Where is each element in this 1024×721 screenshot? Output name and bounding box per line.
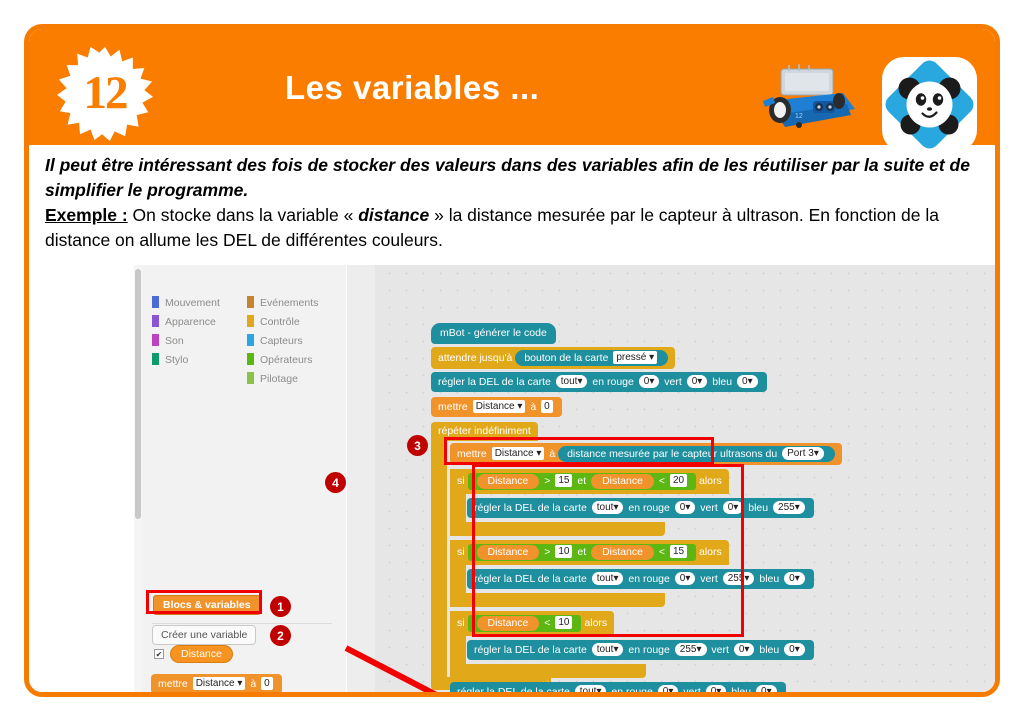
palette-divider (152, 623, 332, 624)
led-green-value[interactable]: 0▾ (734, 643, 755, 656)
step-badge-1: 1 (270, 596, 291, 617)
block-label-bleu: bleu (748, 502, 768, 514)
highlight-box-conditions (472, 464, 744, 637)
block-label-bleu: bleu (712, 376, 732, 388)
script-block-led-init[interactable]: régler la DEL de la carte tout▾ en rouge… (431, 372, 767, 392)
category-color-chip (247, 296, 254, 308)
intro-text: Il peut être intéressant des fois de sto… (45, 153, 989, 253)
page-title: Les variables ... (285, 69, 539, 107)
led-red-value[interactable]: 255▾ (675, 643, 707, 656)
port-dropdown[interactable]: Port 3▾ (782, 447, 824, 460)
category-label: Apparence (165, 316, 216, 328)
led-blue-value[interactable]: 0▾ (784, 572, 805, 585)
category-son[interactable]: Son (152, 334, 184, 347)
block-label-bleu: bleu (759, 644, 779, 656)
value-field[interactable]: 0 (261, 677, 273, 690)
value-field[interactable]: 0 (541, 400, 553, 413)
svg-text:12: 12 (795, 113, 803, 120)
led-red-value[interactable]: 0▾ (639, 375, 660, 388)
canvas-left-strip (347, 265, 375, 692)
block-label-rouge: en rouge (611, 686, 652, 692)
block-label-mid: à (530, 401, 536, 413)
category-label: Evénements (260, 297, 318, 309)
state-dropdown[interactable]: pressé ▾ (613, 351, 657, 364)
step-badge-3: 3 (407, 435, 428, 456)
variable-dropdown[interactable]: Distance ▾ (473, 400, 526, 413)
block-label-bleu: bleu (731, 686, 751, 692)
variable-pill-distance[interactable]: Distance (170, 645, 233, 663)
block-label-vert: vert (664, 376, 682, 388)
mbot-robot-icon: 12 (751, 63, 867, 145)
led-green-value[interactable]: 0▾ (706, 685, 727, 692)
step-badge-2: 2 (270, 625, 291, 646)
block-palette: Mouvement Apparence Son Stylo Evénements… (134, 265, 346, 692)
category-color-chip (152, 353, 159, 365)
led-blue-value[interactable]: 255▾ (773, 501, 805, 514)
led-blue-value[interactable]: 0▾ (737, 375, 758, 388)
category-color-chip (247, 334, 254, 346)
led-red-value[interactable]: 0▾ (658, 685, 679, 692)
block-label: attendre jusqu'à (438, 352, 512, 364)
si-label: si (457, 546, 465, 558)
example-part-1: On stocke dans la variable « (128, 205, 359, 225)
highlight-box-mettre-distance (444, 437, 714, 465)
lesson-number: 12 (57, 45, 153, 141)
create-variable-button[interactable]: Créer une variable (152, 625, 256, 645)
mblock-editor-screenshot: Mouvement Apparence Son Stylo Evénements… (134, 265, 1000, 692)
category-label: Mouvement (165, 297, 220, 309)
category-color-chip (247, 372, 254, 384)
category-label: Contrôle (260, 316, 300, 328)
script-block-attendre-jusqua[interactable]: attendre jusqu'à bouton de la carte pres… (431, 347, 675, 369)
category-evenements[interactable]: Evénements (247, 296, 318, 309)
category-apparence[interactable]: Apparence (152, 315, 216, 328)
sensor-bouton-carte[interactable]: bouton de la carte pressé ▾ (515, 350, 668, 366)
si-label: si (457, 475, 465, 487)
category-label: Pilotage (260, 373, 298, 385)
category-mouvement[interactable]: Mouvement (152, 296, 220, 309)
category-capteurs[interactable]: Capteurs (247, 334, 303, 347)
block-label: régler la DEL de la carte (438, 376, 551, 388)
category-label: Son (165, 335, 184, 347)
block-label-rouge: en rouge (628, 644, 669, 656)
block-label-mid: à (250, 678, 256, 690)
category-color-chip (247, 353, 254, 365)
category-controle[interactable]: Contrôle (247, 315, 300, 328)
example-emphasis: distance (358, 205, 429, 225)
intro-line-1: Il peut être intéressant des fois de sto… (45, 153, 989, 203)
si-label: si (457, 617, 465, 629)
highlight-box-blocs-variables (146, 590, 262, 614)
category-pilotage[interactable]: Pilotage (247, 372, 298, 385)
variable-visibility-checkbox[interactable]: ✔ (154, 649, 164, 659)
category-label: Capteurs (260, 335, 303, 347)
block-label-rouge: en rouge (592, 376, 633, 388)
category-color-chip (152, 334, 159, 346)
block-label-bleu: bleu (759, 573, 779, 585)
category-operateurs[interactable]: Opérateurs (247, 353, 313, 366)
block-label: mettre (438, 401, 468, 413)
led-blue-value[interactable]: 0▾ (756, 685, 777, 692)
led-target-dropdown[interactable]: tout▾ (556, 375, 588, 388)
category-color-chip (152, 296, 159, 308)
palette-scroll-thumb[interactable] (135, 269, 141, 519)
category-label: Stylo (165, 354, 188, 366)
intro-example: Exemple : On stocke dans la variable « d… (45, 203, 989, 253)
step-badge-4: 4 (325, 472, 346, 493)
led-blue-value[interactable]: 0▾ (784, 643, 805, 656)
red-arrow (334, 645, 584, 692)
lesson-card: 12 Les variables ... (24, 24, 1000, 697)
category-label: Opérateurs (260, 354, 313, 366)
block-label: mettre (158, 678, 188, 690)
script-block-mettre-distance-zero[interactable]: mettre Distance ▾ à 0 (431, 397, 562, 417)
script-block-hat-mbot[interactable]: mBot - générer le code (431, 323, 556, 344)
card-header: 12 Les variables ... (29, 29, 995, 145)
variable-dropdown[interactable]: Distance ▾ (193, 677, 246, 690)
category-stylo[interactable]: Stylo (152, 353, 188, 366)
category-color-chip (247, 315, 254, 327)
category-color-chip (152, 315, 159, 327)
led-green-value[interactable]: 0▾ (687, 375, 708, 388)
block-label-vert: vert (683, 686, 701, 692)
example-label: Exemple : (45, 205, 128, 225)
mblock-panda-gear-logo (882, 57, 977, 152)
palette-block-mettre[interactable]: mettre Distance ▾ à 0 (151, 674, 282, 692)
block-label-vert: vert (711, 644, 729, 656)
led-target-dropdown[interactable]: tout▾ (592, 643, 624, 656)
